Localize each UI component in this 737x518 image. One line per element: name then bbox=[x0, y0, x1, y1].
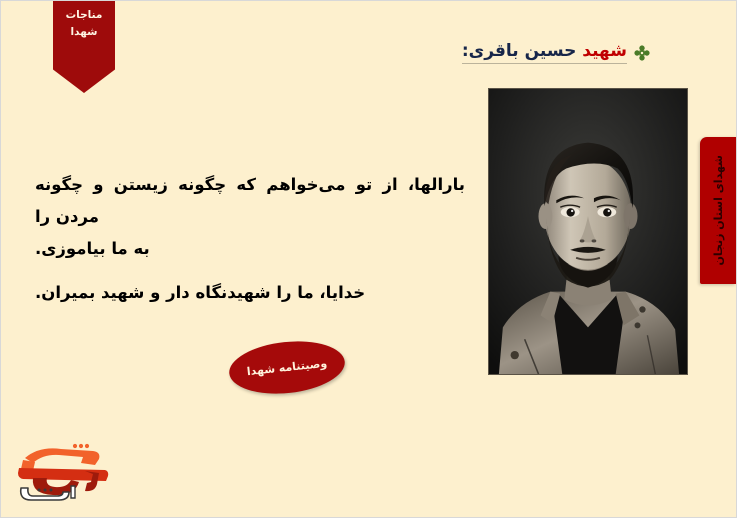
shohada-ostan-zanjan-tab[interactable]: شهدای استان زنجان bbox=[700, 137, 736, 284]
side-tab-label: شهدای استان زنجان bbox=[712, 155, 725, 265]
ribbon-line-2: شهدا bbox=[71, 24, 98, 41]
prayer-text-block: بارالها، از تو می‌خواهم که چگونه زیستن و… bbox=[35, 169, 465, 309]
prayer-line-3: خدایا، ما را شهیدنگاه دار و شهید بمیران. bbox=[35, 277, 465, 309]
page-title: شهید حسین باقری: bbox=[462, 41, 650, 64]
prayer-line-2: به ما بیاموزی. bbox=[35, 233, 465, 265]
navid-zanjan-logo-mark bbox=[9, 438, 119, 504]
martyr-portrait-photo bbox=[488, 88, 688, 375]
navid-zanjan-logo[interactable] bbox=[9, 438, 119, 504]
page-title-text: شهید حسین باقری: bbox=[462, 41, 627, 64]
title-martyr-name: حسین باقری: bbox=[462, 41, 582, 61]
title-martyr-word: شهید bbox=[582, 41, 627, 61]
oval-button-label: وصیتنامه شهدا bbox=[246, 357, 328, 378]
munajat-shohada-ribbon[interactable]: مناجات شهدا bbox=[53, 0, 115, 93]
green-diamond-bullet-icon bbox=[634, 45, 650, 61]
vasiatnameh-shohada-button[interactable]: وصیتنامه شهدا bbox=[227, 336, 348, 399]
ribbon-line-1: مناجات bbox=[66, 7, 103, 24]
prayer-line-1: بارالها، از تو می‌خواهم که چگونه زیستن و… bbox=[35, 169, 465, 233]
portrait-illustration bbox=[489, 89, 687, 374]
slide-canvas: مناجات شهدا شهید حسین باقری: bbox=[0, 0, 737, 518]
